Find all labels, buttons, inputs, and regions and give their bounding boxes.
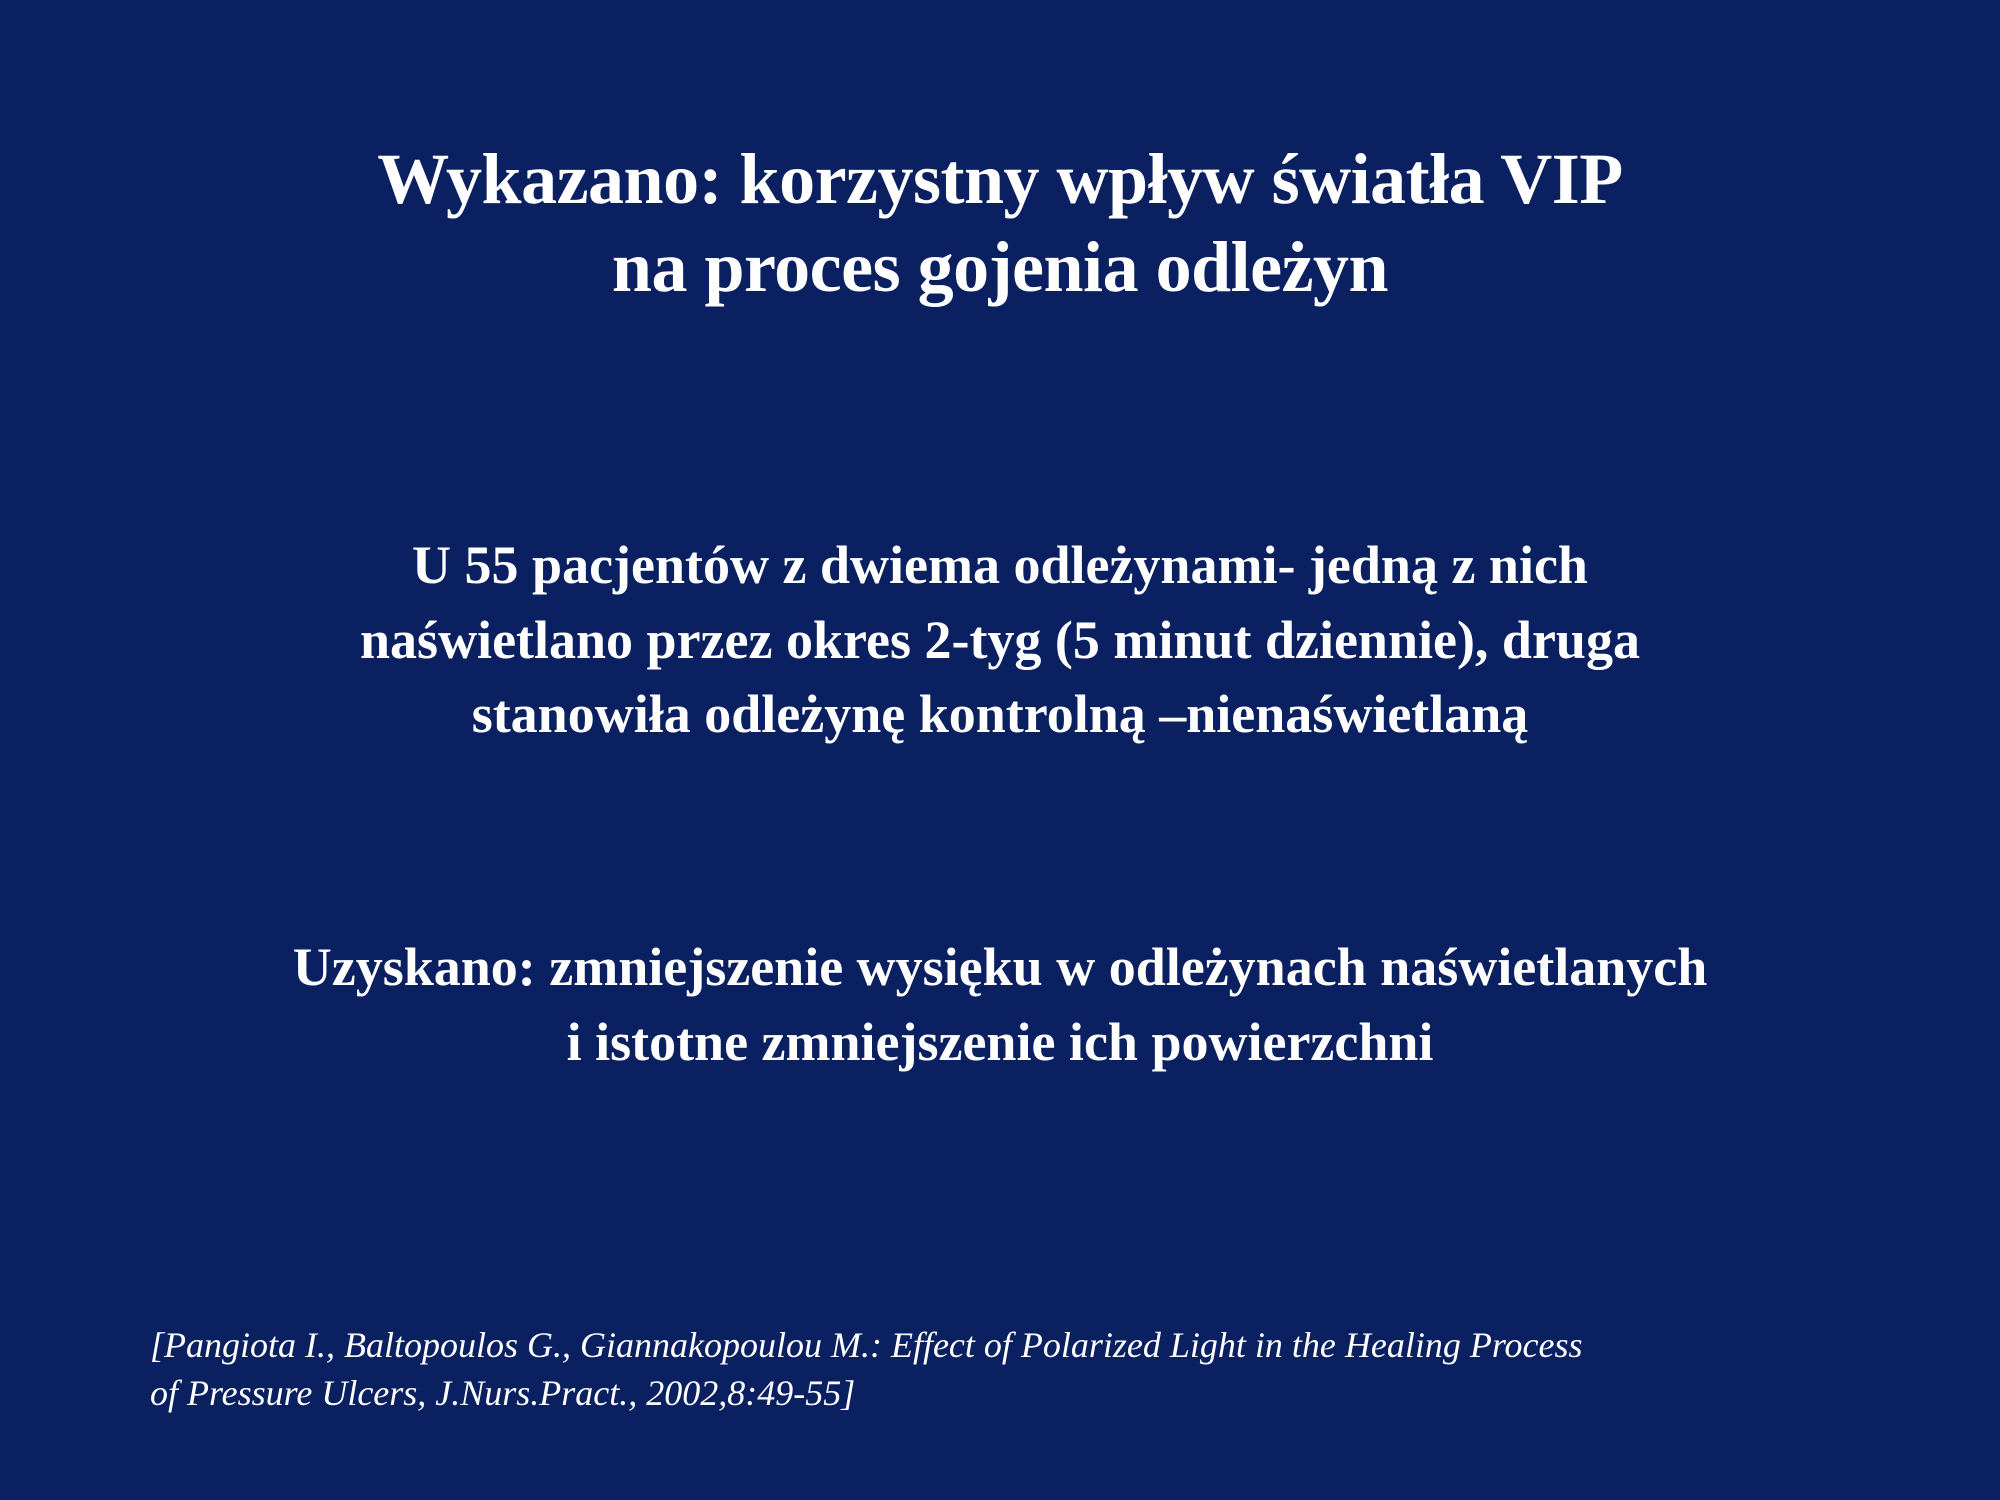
body-p2-line-2: i istotne zmniejszenie ich powierzchni bbox=[0, 1005, 2000, 1080]
citation-reference: [Pangiota I., Baltopoulos G., Giannakopo… bbox=[150, 1322, 1940, 1417]
citation-line-1: [Pangiota I., Baltopoulos G., Giannakopo… bbox=[150, 1322, 1940, 1370]
body-paragraph-results: Uzyskano: zmniejszenie wysięku w odleżyn… bbox=[0, 930, 2000, 1079]
body-p1-line-1: U 55 pacjentów z dwiema odleżynami- jedn… bbox=[0, 528, 2000, 603]
citation-line-2: of Pressure Ulcers, J.Nurs.Pract., 2002,… bbox=[150, 1370, 1940, 1418]
body-p1-line-2: naświetlano przez okres 2-tyg (5 minut d… bbox=[0, 603, 2000, 678]
body-p1-line-3: stanowiła odleżynę kontrolną –nienaświet… bbox=[0, 677, 2000, 752]
presentation-slide: Wykazano: korzystny wpływ światła VIP na… bbox=[0, 0, 2000, 1500]
slide-title: Wykazano: korzystny wpływ światła VIP na… bbox=[0, 136, 2000, 312]
title-line-2: na proces gojenia odleżyn bbox=[0, 224, 2000, 312]
title-line-1: Wykazano: korzystny wpływ światła VIP bbox=[0, 136, 2000, 224]
body-p2-line-1: Uzyskano: zmniejszenie wysięku w odleżyn… bbox=[0, 930, 2000, 1005]
body-paragraph-study-design: U 55 pacjentów z dwiema odleżynami- jedn… bbox=[0, 528, 2000, 752]
